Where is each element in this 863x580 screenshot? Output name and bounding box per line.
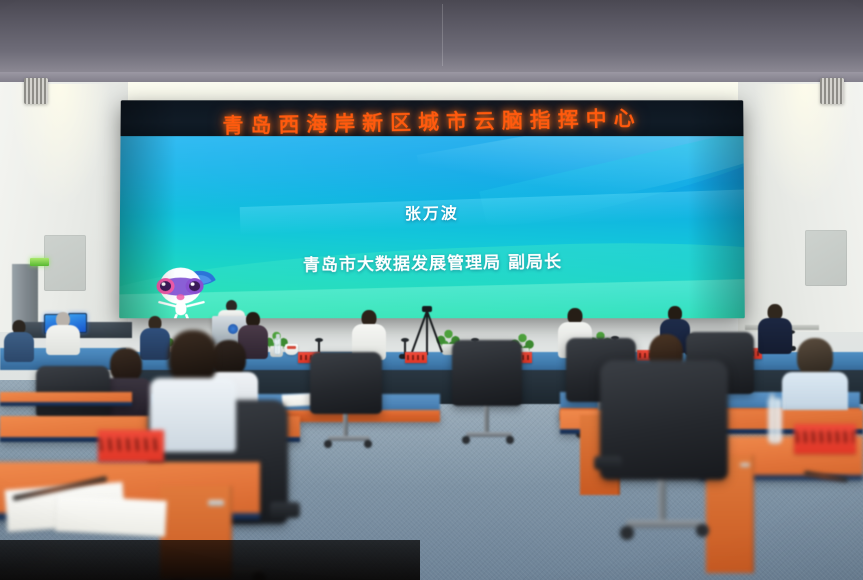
attendee [150, 330, 236, 446]
name-tent-card [794, 424, 856, 454]
ceiling-seam [442, 4, 443, 66]
office-chair [310, 352, 382, 452]
led-banner-title: 青岛西海岸新区城市云脑指挥中心 [222, 102, 642, 140]
desk-handle [740, 463, 750, 467]
office-chair [600, 360, 728, 550]
tripod-leg [426, 311, 428, 355]
name-tent-card [405, 352, 427, 363]
water-bottle [768, 398, 782, 444]
led-slide: 张万波 青岛市大数据发展管理局 副局长 [119, 136, 745, 318]
name-tent-card [98, 430, 164, 462]
slide-speaker-title: 青岛市大数据发展管理局 副局长 [120, 245, 745, 279]
wall-access-panel [44, 235, 86, 291]
slide-speaker-name: 张万波 [120, 196, 744, 229]
attendee [4, 320, 34, 360]
water-bottle [274, 338, 281, 355]
wall-access-panel [805, 230, 847, 286]
paper-sheet [55, 495, 167, 537]
attendee [352, 310, 386, 358]
foreground-shadow [0, 540, 420, 580]
camera-tripod [410, 306, 444, 354]
led-video-wall: 青岛西海岸新区城市云脑指挥中心 [119, 100, 745, 318]
desk-handle [208, 500, 224, 506]
ceiling-soffit [0, 0, 863, 82]
conference-hall-photo: 青岛西海岸新区城市云脑指挥中心 [0, 0, 863, 580]
audience-desk [0, 392, 132, 406]
office-chair [452, 340, 522, 450]
tripod-leg [426, 311, 443, 353]
attendee [782, 338, 848, 418]
ceiling-speaker-icon [24, 78, 48, 104]
exit-sign-icon [30, 258, 49, 266]
attendee [46, 312, 80, 354]
paper-cup [285, 344, 298, 355]
led-banner-strip: 青岛西海岸新区城市云脑指挥中心 [121, 100, 744, 140]
ceiling-speaker-icon [820, 78, 844, 104]
